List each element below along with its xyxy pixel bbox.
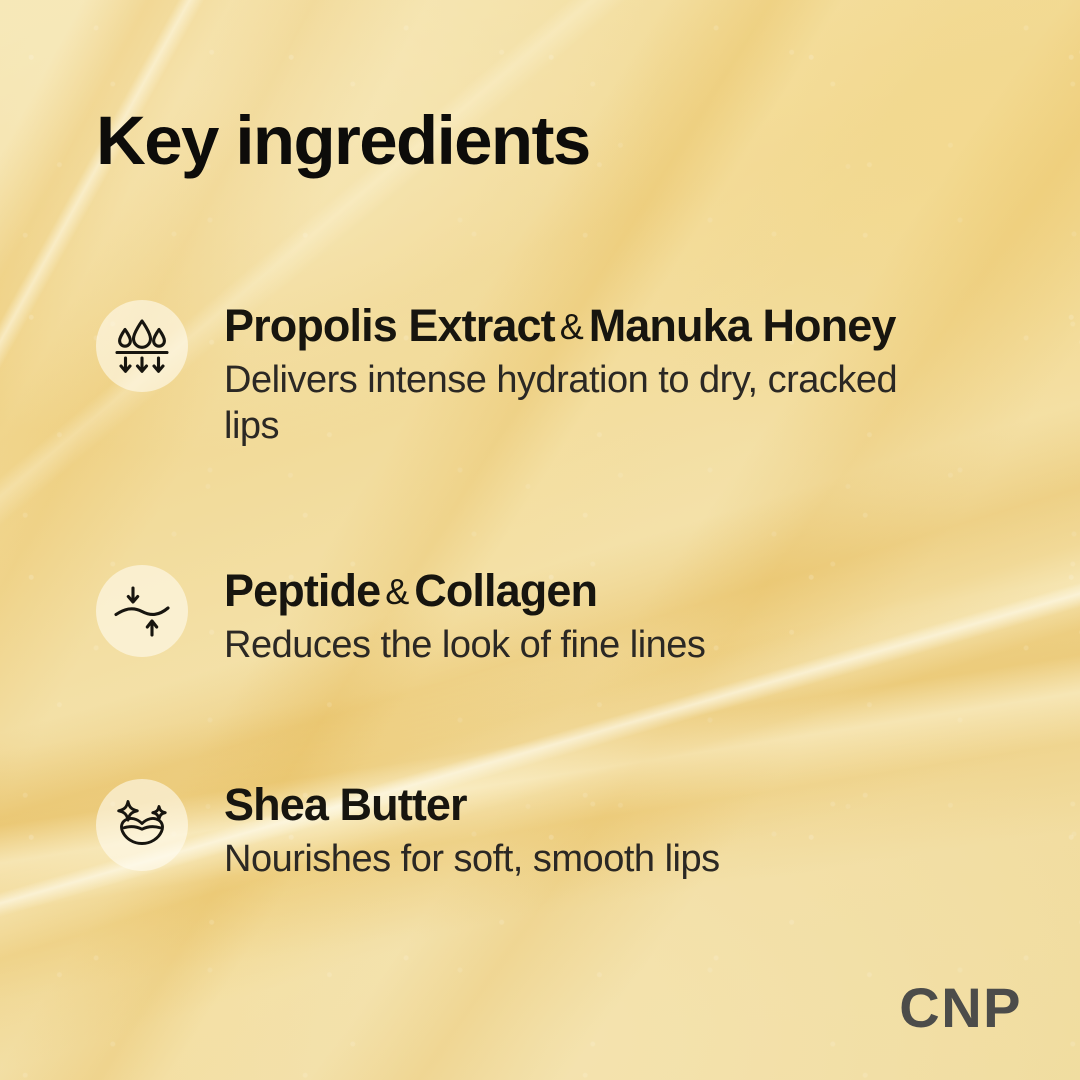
ingredient-conjunction <box>467 785 477 826</box>
brand-logo-cnp: CNP <box>899 980 1022 1036</box>
ingredient-name-part1: Peptide <box>224 565 380 616</box>
ingredient-title: Shea Butter <box>224 781 720 829</box>
ingredient-description: Reduces the look of fine lines <box>224 622 705 669</box>
ingredient-text-block: Shea Butter Nourishes for soft, smooth l… <box>224 779 720 882</box>
ingredient-title: Propolis Extract&Manuka Honey <box>224 302 924 350</box>
ingredient-name-part2: Manuka Honey <box>589 300 896 351</box>
ingredient-item-shea-butter: Shea Butter Nourishes for soft, smooth l… <box>96 779 720 882</box>
key-ingredients-infographic: Key ingredients Propolis Extract <box>0 0 1080 1080</box>
ingredient-text-block: Propolis Extract&Manuka Honey Delivers i… <box>224 300 924 450</box>
ingredient-conjunction: & <box>380 571 414 612</box>
smooth-wave-lines-icon <box>96 565 188 657</box>
water-drops-absorb-icon <box>96 300 188 392</box>
ingredient-description: Nourishes for soft, smooth lips <box>224 836 720 883</box>
ingredient-item-propolis: Propolis Extract&Manuka Honey Delivers i… <box>96 300 924 450</box>
ingredient-conjunction: & <box>555 306 589 347</box>
ingredient-name-part1: Propolis Extract <box>224 300 555 351</box>
ingredient-text-block: Peptide&Collagen Reduces the look of fin… <box>224 565 705 668</box>
ingredient-name-part2: Collagen <box>414 565 597 616</box>
ingredient-item-peptide: Peptide&Collagen Reduces the look of fin… <box>96 565 705 668</box>
ingredient-name-part1: Shea Butter <box>224 779 467 830</box>
ingredient-title: Peptide&Collagen <box>224 567 705 615</box>
sparkling-lips-icon <box>96 779 188 871</box>
ingredient-description: Delivers intense hydration to dry, crack… <box>224 357 924 450</box>
page-title: Key ingredients <box>96 106 590 175</box>
